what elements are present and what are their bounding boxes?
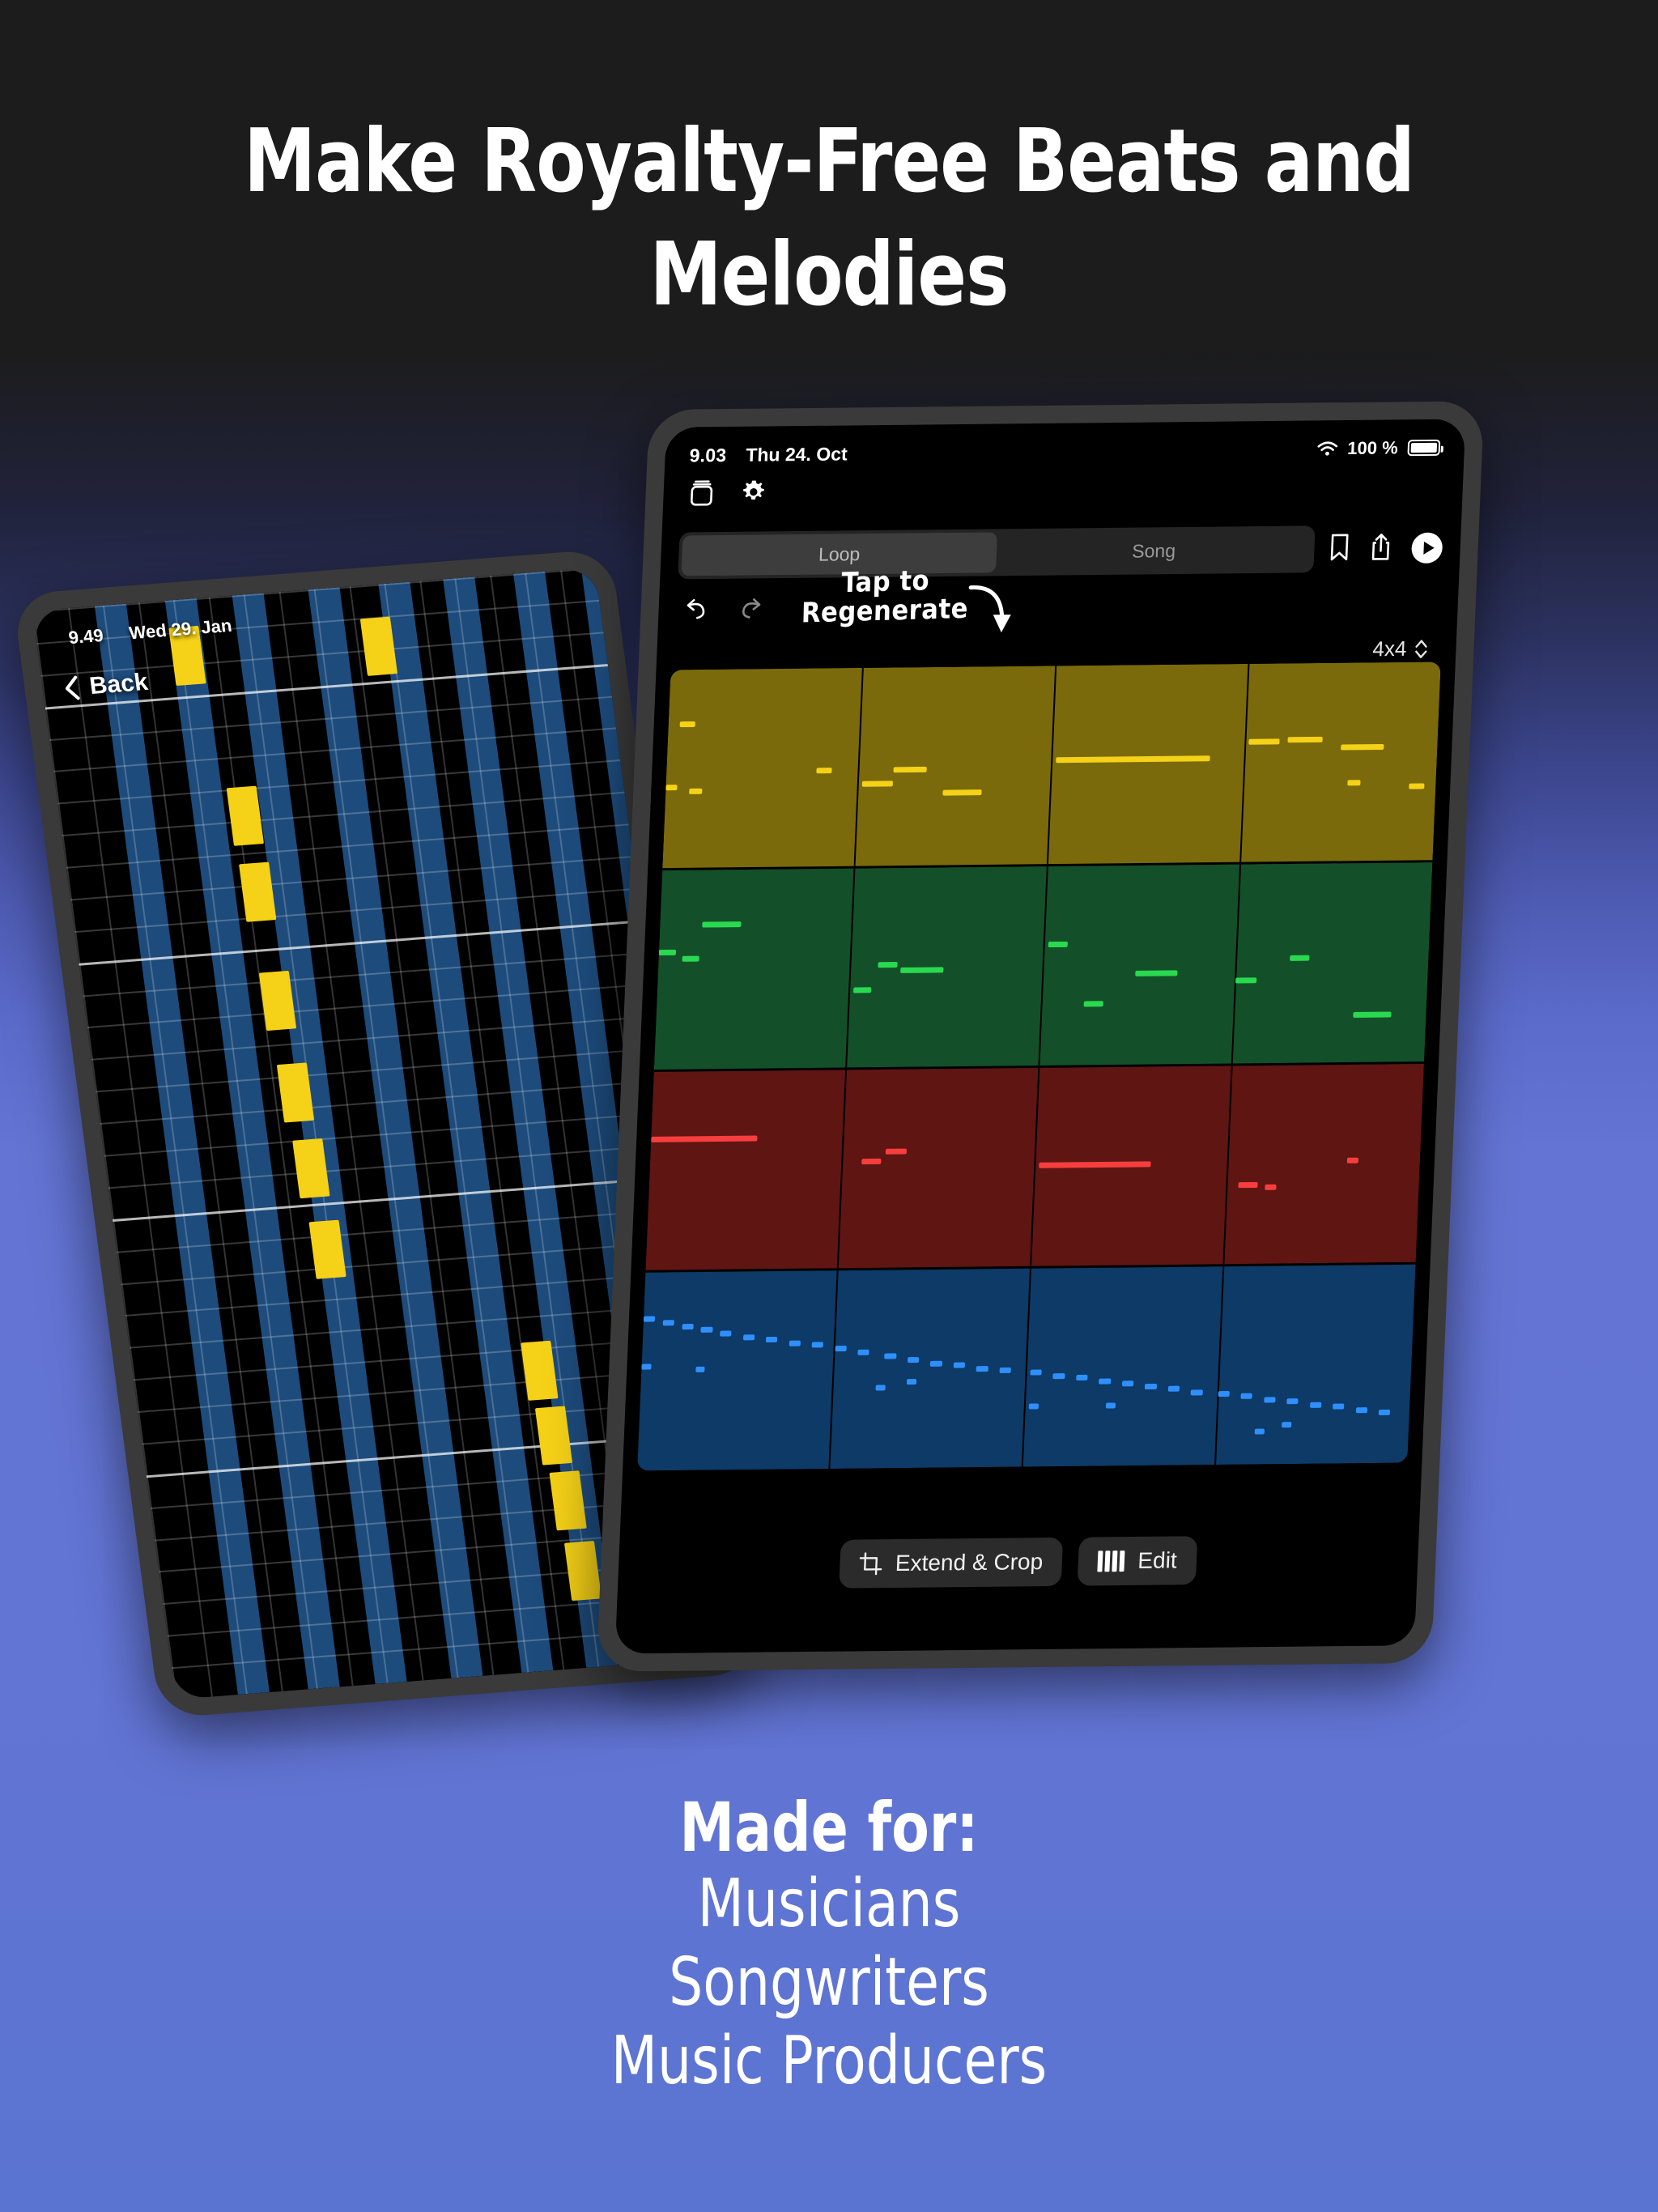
note[interactable] [641,1363,651,1369]
extend-crop-button[interactable]: Extend & Crop [840,1538,1064,1589]
note[interactable] [1290,955,1309,961]
back-button-label: Back [88,669,150,700]
gear-icon[interactable] [739,478,768,509]
note[interactable] [1135,971,1178,977]
audience-music-producers: Music Producers [83,2023,1575,2101]
note[interactable] [659,950,677,955]
note[interactable] [1084,1001,1103,1006]
note[interactable] [885,1148,906,1154]
note[interactable] [999,1368,1011,1373]
track-3[interactable] [645,1063,1424,1272]
history-controls [681,598,767,627]
note[interactable] [789,1340,801,1346]
grid-size-stepper[interactable]: 4x4 [1372,636,1429,662]
note[interactable] [1282,1423,1291,1428]
play-icon[interactable] [1411,533,1443,564]
grid-size-value: 4x4 [1372,636,1407,661]
note[interactable] [1053,1373,1065,1379]
note[interactable] [720,1331,732,1337]
bar-cell[interactable] [847,866,1048,1067]
bar-cell[interactable] [856,666,1057,866]
made-for-block: Made for: Musicians Songwriters Music Pr… [83,1789,1575,2100]
note[interactable] [1333,1404,1345,1410]
curved-down-arrow-icon [965,577,1025,644]
bar-cell[interactable] [637,1270,839,1471]
note[interactable] [875,1385,885,1390]
audience-musicians: Musicians [83,1865,1575,1944]
track-1[interactable] [662,661,1441,870]
redo-icon[interactable] [736,598,767,626]
note[interactable] [703,921,742,927]
track-4[interactable] [637,1265,1416,1471]
bar-cell[interactable] [1023,1266,1225,1467]
note[interactable] [1099,1379,1111,1385]
note[interactable] [1310,1402,1322,1408]
note[interactable] [662,1320,674,1325]
bookmark-icon[interactable] [1329,532,1351,565]
note[interactable] [1409,783,1424,789]
note[interactable] [1235,977,1256,983]
regenerate-hint: Tap to Regenerate [801,565,970,628]
note[interactable] [1347,780,1361,785]
note[interactable] [908,1357,920,1363]
bar-lines [637,1265,1416,1471]
foreground-tablet-screen: 9.03 Thu 24. Oct 100 % [615,419,1466,1653]
note[interactable] [942,789,981,795]
note[interactable] [1145,1384,1157,1389]
note[interactable] [884,1353,896,1359]
foreground-tablet: 9.03 Thu 24. Oct 100 % [597,401,1485,1671]
crop-icon [859,1552,882,1575]
note[interactable] [701,1327,713,1333]
note[interactable] [1122,1380,1134,1386]
note[interactable] [644,1316,656,1321]
note[interactable] [853,988,871,993]
note[interactable] [1286,1398,1299,1404]
battery-full-icon [1407,440,1440,456]
note[interactable] [894,767,927,772]
status-bar-date: Thu 24. Oct [746,443,848,466]
note[interactable] [1353,1012,1392,1018]
note[interactable] [862,781,893,786]
wifi-icon [1316,440,1338,457]
note[interactable] [1240,1393,1252,1398]
note[interactable] [1347,1157,1359,1163]
note[interactable] [857,1350,869,1355]
note[interactable] [766,1337,778,1342]
note[interactable] [1255,1428,1265,1434]
library-icon[interactable] [687,477,716,512]
note[interactable] [695,1367,705,1372]
note[interactable] [689,789,703,794]
status-bar-time: 9.03 [689,445,727,466]
bar-cell[interactable] [654,869,856,1070]
bar-cell[interactable] [1040,865,1242,1066]
edit-button[interactable]: Edit [1078,1536,1197,1585]
page-title: Make Royalty-Free Beats and Melodies [66,105,1592,333]
toolbar-icons [1329,531,1443,565]
note[interactable] [682,955,699,961]
note[interactable] [1048,942,1067,947]
note[interactable] [1238,1182,1257,1188]
extend-crop-label: Extend & Crop [895,1549,1044,1576]
note[interactable] [1341,744,1384,751]
bar-cell[interactable] [1216,1265,1416,1465]
note[interactable] [1030,1369,1042,1375]
note[interactable] [1265,1184,1277,1189]
edit-label: Edit [1137,1547,1178,1573]
note[interactable] [1287,737,1322,742]
note[interactable] [1379,1410,1391,1415]
note[interactable] [900,967,943,973]
note[interactable] [665,785,678,790]
note[interactable] [680,721,695,727]
note[interactable] [878,961,897,967]
made-for-title: Made for: [83,1789,1575,1865]
note[interactable] [1249,739,1280,745]
undo-icon[interactable] [681,598,712,627]
bar-lines [654,862,1433,1069]
bar-cell[interactable] [1048,664,1250,865]
bottom-actions: Extend & Crop Edit [618,1534,1419,1590]
up-down-chevron-icon [1414,637,1429,660]
bar-cell[interactable] [1224,1063,1424,1264]
note[interactable] [817,768,832,773]
battery-percent-label: 100 % [1347,437,1399,459]
grid-line-vertical [314,589,459,1678]
note[interactable] [742,1334,755,1340]
track-2[interactable] [654,862,1433,1071]
note[interactable] [1168,1386,1180,1392]
tab-song[interactable]: Song [996,529,1312,572]
bar-cell[interactable] [839,1067,1040,1268]
note[interactable] [976,1366,988,1372]
status-bar: 9.03 Thu 24. Oct 100 % [664,419,1465,483]
bar-cell[interactable] [645,1070,847,1270]
regenerate-hint-line2: Regenerate [801,594,969,628]
note[interactable] [930,1360,942,1366]
loop-tracks[interactable] [637,661,1441,1470]
bar-cell[interactable] [1233,862,1433,1063]
note[interactable] [907,1379,916,1385]
share-icon[interactable] [1369,532,1393,565]
note[interactable] [954,1362,966,1368]
chevron-left-icon [62,674,82,701]
piano-keys-icon [1098,1551,1125,1572]
bar-cell[interactable] [662,668,864,869]
audience-songwriters: Songwriters [83,1944,1575,2023]
note[interactable] [1218,1391,1230,1397]
app-tools [687,476,768,512]
note[interactable] [812,1342,824,1347]
note[interactable] [861,1159,881,1164]
note[interactable] [1264,1397,1276,1402]
loop-song-segmented-control[interactable]: Loop Song [678,525,1315,579]
top-toolbar: Loop Song [678,525,1443,580]
note[interactable] [835,1346,847,1351]
note[interactable] [1106,1402,1116,1408]
note[interactable] [1191,1389,1203,1395]
note[interactable] [682,1324,694,1329]
note[interactable] [1076,1375,1088,1380]
note[interactable] [1355,1407,1367,1413]
back-status-time: 9.49 [67,625,104,648]
bar-lines [645,1063,1424,1270]
bar-cell[interactable] [1241,661,1441,862]
note[interactable] [1028,1403,1038,1409]
bar-lines [662,661,1441,868]
